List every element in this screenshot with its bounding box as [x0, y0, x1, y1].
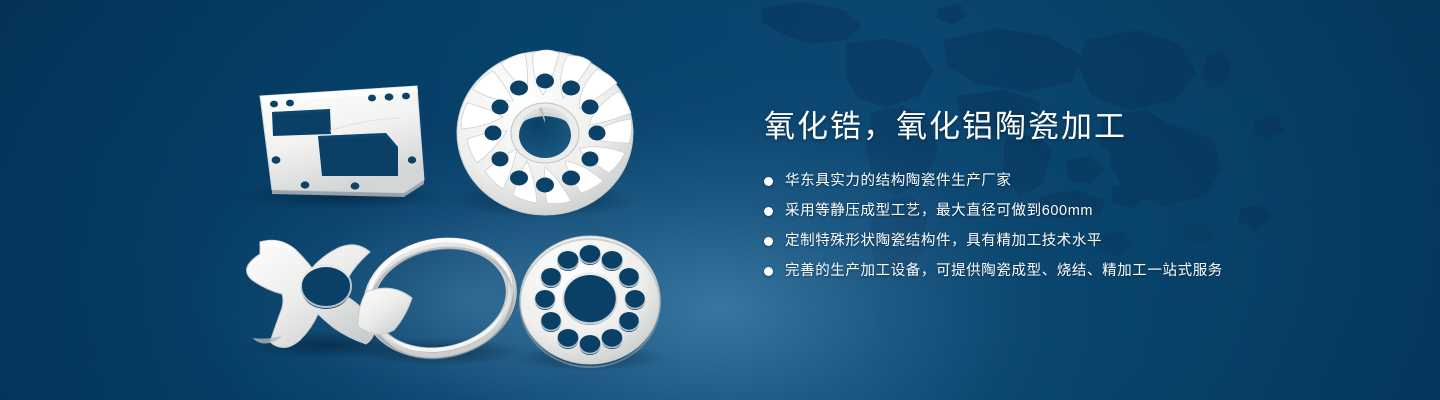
bullet-dot-icon: [764, 207, 773, 216]
list-item: 完善的生产加工设备，可提供陶瓷成型、烧结、精加工一站式服务: [764, 261, 1384, 281]
list-item: 采用等静压成型工艺，最大直径可做到600mm: [764, 201, 1384, 221]
banner-copy: 氧化锆，氧化铝陶瓷加工 华东具实力的结构陶瓷件生产厂家 采用等静压成型工艺，最大…: [764, 108, 1384, 291]
hero-banner: 氧化锆，氧化铝陶瓷加工 华东具实力的结构陶瓷件生产厂家 采用等静压成型工艺，最大…: [0, 0, 1440, 400]
bullet-dot-icon: [764, 267, 773, 276]
feature-list: 华东具实力的结构陶瓷件生产厂家 采用等静压成型工艺，最大直径可做到600mm 定…: [764, 171, 1384, 281]
list-item-label: 定制特殊形状陶瓷结构件，具有精加工技术水平: [785, 231, 1102, 251]
page-title: 氧化锆，氧化铝陶瓷加工: [764, 108, 1384, 145]
bullet-dot-icon: [764, 177, 773, 186]
list-item-label: 完善的生产加工设备，可提供陶瓷成型、烧结、精加工一站式服务: [785, 261, 1223, 281]
list-item-label: 采用等静压成型工艺，最大直径可做到600mm: [785, 201, 1093, 221]
list-item-label: 华东具实力的结构陶瓷件生产厂家: [785, 171, 1012, 191]
list-item: 华东具实力的结构陶瓷件生产厂家: [764, 171, 1384, 191]
bullet-dot-icon: [764, 237, 773, 246]
list-item: 定制特殊形状陶瓷结构件，具有精加工技术水平: [764, 231, 1384, 251]
